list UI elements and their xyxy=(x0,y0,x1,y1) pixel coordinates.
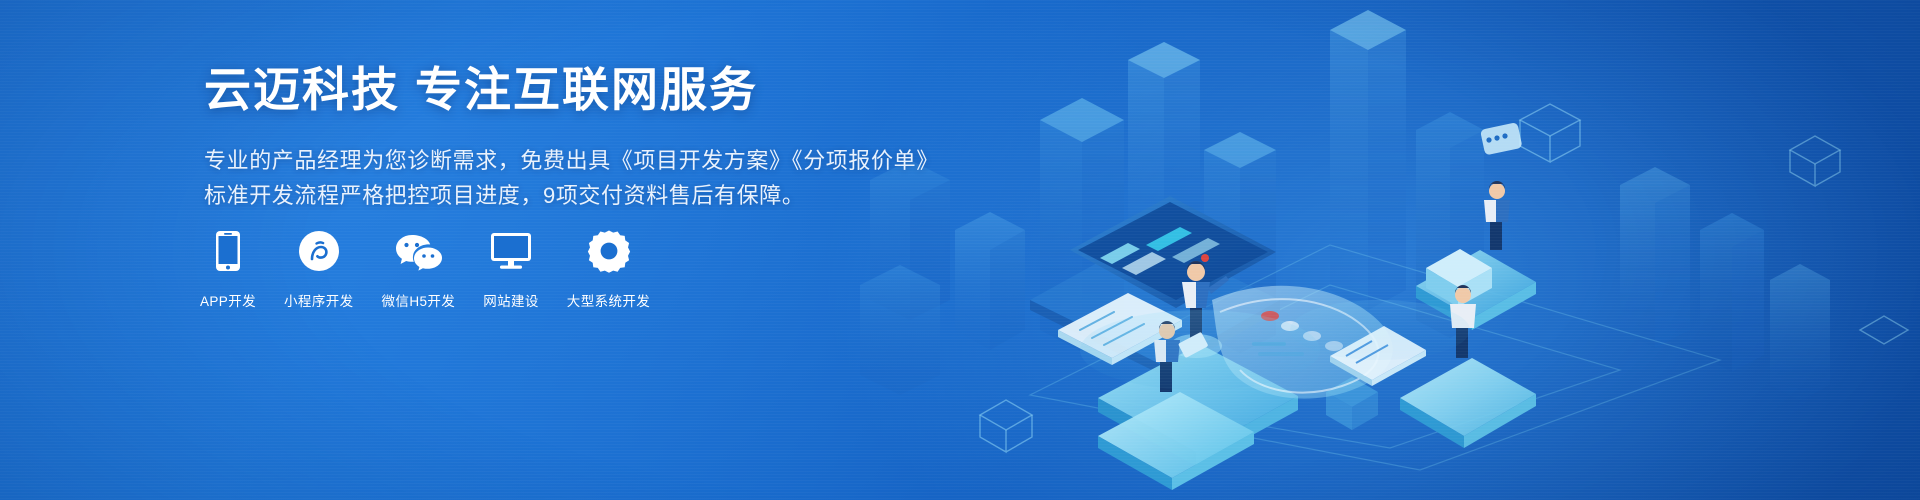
mobile-phone-icon xyxy=(200,228,256,274)
page-title: 云迈科技 专注互联网服务 xyxy=(204,64,964,117)
service-item-mini-program[interactable]: 小程序开发 xyxy=(284,228,354,310)
gear-icon xyxy=(567,228,650,274)
banner-subtitle: 专业的产品经理为您诊断需求，免费出具《项目开发方案》《分项报价单》 标准开发流程… xyxy=(204,143,964,214)
service-label: 网站建设 xyxy=(483,290,539,310)
subtitle-line-1: 专业的产品经理为您诊断需求，免费出具《项目开发方案》《分项报价单》 xyxy=(204,143,964,179)
service-label: APP开发 xyxy=(200,290,256,310)
banner-copy: 云迈科技 专注互联网服务 专业的产品经理为您诊断需求，免费出具《项目开发方案》《… xyxy=(204,64,964,214)
service-item-website[interactable]: 网站建设 xyxy=(483,228,539,310)
service-label: 微信H5开发 xyxy=(382,290,456,310)
wechat-icon xyxy=(382,228,456,274)
hero-banner: 云迈科技 专注互联网服务 专业的产品经理为您诊断需求，免费出具《项目开发方案》《… xyxy=(0,0,1920,500)
service-item-wechat-h5[interactable]: 微信H5开发 xyxy=(382,228,456,310)
subtitle-line-2: 标准开发流程严格把控项目进度，9项交付资料售后有保障。 xyxy=(204,178,964,214)
service-label: 小程序开发 xyxy=(284,290,354,310)
service-item-app[interactable]: APP开发 xyxy=(200,228,256,310)
monitor-icon xyxy=(483,228,539,274)
illustration-isometric-tech-scene xyxy=(860,0,1920,500)
service-label: 大型系统开发 xyxy=(567,290,650,310)
service-list: APP开发 小程序开发 xyxy=(200,228,650,310)
service-item-large-system[interactable]: 大型系统开发 xyxy=(567,228,650,310)
mini-program-icon xyxy=(284,228,354,274)
